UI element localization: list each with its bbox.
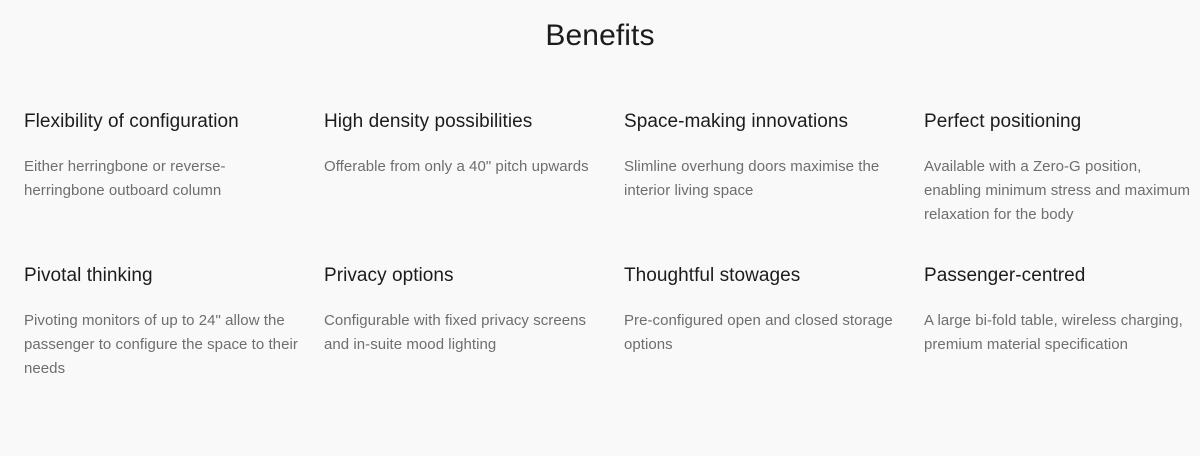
benefit-card: High density possibilities Offerable fro…	[324, 109, 624, 227]
benefit-description: Configurable with fixed privacy screens …	[324, 309, 600, 357]
benefits-grid: Flexibility of configuration Either herr…	[0, 109, 1200, 381]
benefit-heading: Flexibility of configuration	[24, 109, 300, 135]
page-title: Benefits	[0, 0, 1200, 54]
benefit-description: Available with a Zero-G position, enabli…	[924, 155, 1200, 227]
benefit-description: Either herringbone or reverse-herringbon…	[24, 155, 300, 203]
benefit-heading: Perfect positioning	[924, 109, 1200, 135]
benefit-card: Space-making innovations Slimline overhu…	[624, 109, 924, 227]
benefit-card: Privacy options Configurable with fixed …	[324, 263, 624, 381]
benefit-description: Pre-configured open and closed storage o…	[624, 309, 900, 357]
benefit-heading: Privacy options	[324, 263, 600, 289]
benefit-description: Offerable from only a 40" pitch upwards	[324, 155, 600, 179]
benefit-heading: Passenger-centred	[924, 263, 1200, 289]
benefit-heading: High density possibilities	[324, 109, 600, 135]
benefit-card: Flexibility of configuration Either herr…	[24, 109, 324, 227]
benefit-heading: Space-making innovations	[624, 109, 900, 135]
benefit-card: Thoughtful stowages Pre-configured open …	[624, 263, 924, 381]
benefit-description: Slimline overhung doors maximise the int…	[624, 155, 900, 203]
benefit-card: Passenger-centred A large bi-fold table,…	[924, 263, 1200, 381]
benefit-heading: Thoughtful stowages	[624, 263, 900, 289]
benefit-heading: Pivotal thinking	[24, 263, 300, 289]
benefit-card: Perfect positioning Available with a Zer…	[924, 109, 1200, 227]
benefit-description: Pivoting monitors of up to 24" allow the…	[24, 309, 316, 381]
benefit-card: Pivotal thinking Pivoting monitors of up…	[24, 263, 324, 381]
benefit-description: A large bi-fold table, wireless charging…	[924, 309, 1200, 357]
benefits-section: Benefits Flexibility of configuration Ei…	[0, 0, 1200, 456]
